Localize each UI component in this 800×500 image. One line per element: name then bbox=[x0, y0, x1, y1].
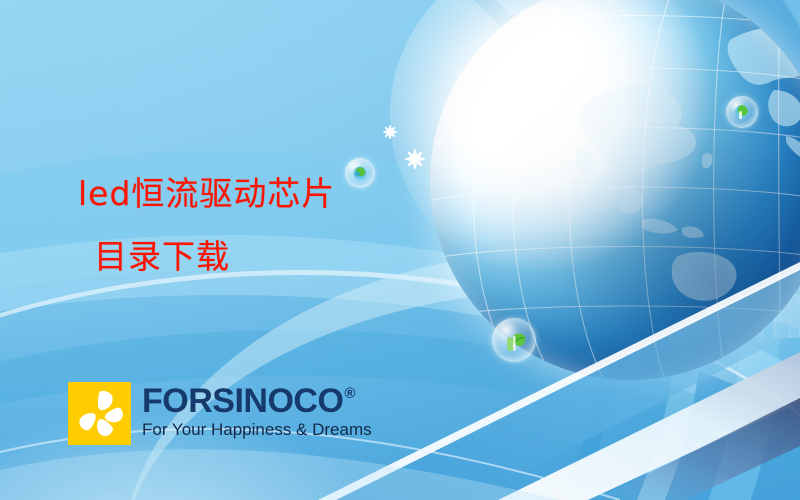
globe-graticule bbox=[430, 0, 800, 380]
page-title-line-1: led恒流驱动芯片 bbox=[78, 174, 335, 213]
green-globe-seed-icon bbox=[345, 158, 375, 188]
green-globe-seed-icon bbox=[726, 96, 758, 128]
brand-logo-text: FORSINOCO ® For Your Happiness & Dreams bbox=[142, 383, 372, 440]
page-title: led恒流驱动芯片 目录下载 bbox=[78, 162, 335, 288]
sparkle-flower-icon bbox=[398, 142, 432, 181]
globe-landmass bbox=[576, 4, 800, 301]
registered-trademark-icon: ® bbox=[344, 386, 355, 401]
earth-globe bbox=[430, 0, 800, 380]
slide-canvas: led恒流驱动芯片 目录下载 FORSINOCO ® For Your Happ… bbox=[0, 0, 800, 500]
bubble-with-globe-seed bbox=[345, 158, 375, 188]
forsinoco-pinwheel-mark bbox=[68, 382, 131, 445]
brand-tagline: For Your Happiness & Dreams bbox=[142, 420, 372, 440]
green-sprout-seed-icon bbox=[492, 318, 536, 362]
brand-name-word: FORSINOCO bbox=[142, 383, 343, 419]
bubble-with-sprout-seed bbox=[492, 318, 536, 362]
page-title-line-2: 目录下载 bbox=[78, 225, 335, 288]
brand-logo: FORSINOCO ® For Your Happiness & Dreams bbox=[68, 382, 372, 445]
brand-name: FORSINOCO ® bbox=[142, 383, 372, 419]
bubble-with-globe-seed bbox=[726, 96, 758, 128]
